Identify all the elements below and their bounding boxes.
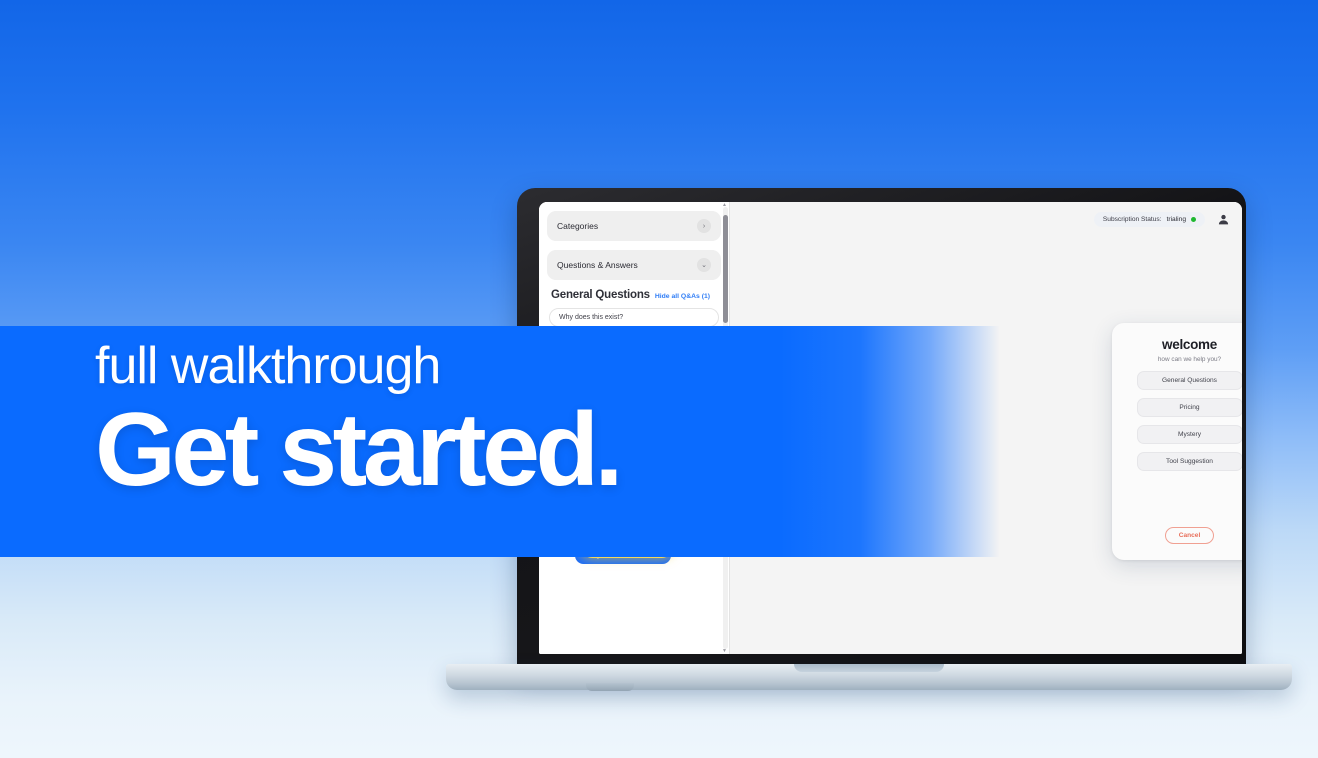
chevron-down-icon[interactable]: ⌄: [697, 258, 711, 272]
chevron-right-icon[interactable]: ›: [697, 219, 711, 233]
user-avatar-icon[interactable]: [1217, 213, 1230, 226]
welcome-option-pricing[interactable]: Pricing: [1137, 398, 1243, 417]
laptop-foot: [586, 683, 634, 691]
cancel-button[interactable]: Cancel: [1165, 527, 1215, 544]
section-header: General Questions Hide all Q&As (1): [551, 289, 719, 301]
toggle-qas-link[interactable]: Hide all Q&As (1): [655, 293, 710, 300]
status-dot-icon: [1191, 217, 1196, 222]
sidebar-panel-categories[interactable]: Categories ›: [547, 211, 721, 241]
subscription-status-value: trialing: [1167, 216, 1186, 223]
welcome-option-general-questions[interactable]: General Questions: [1137, 371, 1243, 390]
subscription-status-label: Subscription Status:: [1103, 216, 1162, 223]
scroll-down-icon[interactable]: ▼: [722, 648, 727, 654]
subscription-status-badge: Subscription Status: trialing: [1094, 212, 1205, 227]
sidebar-panel-questions-answers[interactable]: Questions & Answers ⌄: [547, 250, 721, 280]
banner-kicker: full walkthrough: [95, 340, 619, 392]
banner-headline: Get started.: [95, 396, 619, 504]
scroll-up-icon[interactable]: ▲: [722, 202, 727, 208]
scrollbar-thumb[interactable]: [723, 215, 728, 323]
welcome-title: welcome: [1162, 337, 1217, 352]
panel-label: Categories: [557, 221, 598, 231]
top-bar: Subscription Status: trialing: [1094, 212, 1230, 227]
promo-banner: full walkthrough Get started.: [0, 326, 1000, 557]
welcome-option-mystery[interactable]: Mystery: [1137, 425, 1243, 444]
section-title: General Questions: [551, 289, 650, 301]
banner-text: full walkthrough Get started.: [95, 340, 619, 504]
panel-label: Questions & Answers: [557, 260, 638, 270]
question-input[interactable]: Why does this exist?: [549, 308, 719, 327]
laptop-base: [446, 664, 1292, 690]
welcome-subtitle: how can we help you?: [1158, 356, 1221, 363]
welcome-option-tool-suggestion[interactable]: Tool Suggestion: [1137, 452, 1243, 471]
welcome-modal: welcome how can we help you? General Que…: [1112, 323, 1242, 560]
promo-slide: Categories › Questions & Answers ⌄ Gener…: [0, 0, 1318, 758]
